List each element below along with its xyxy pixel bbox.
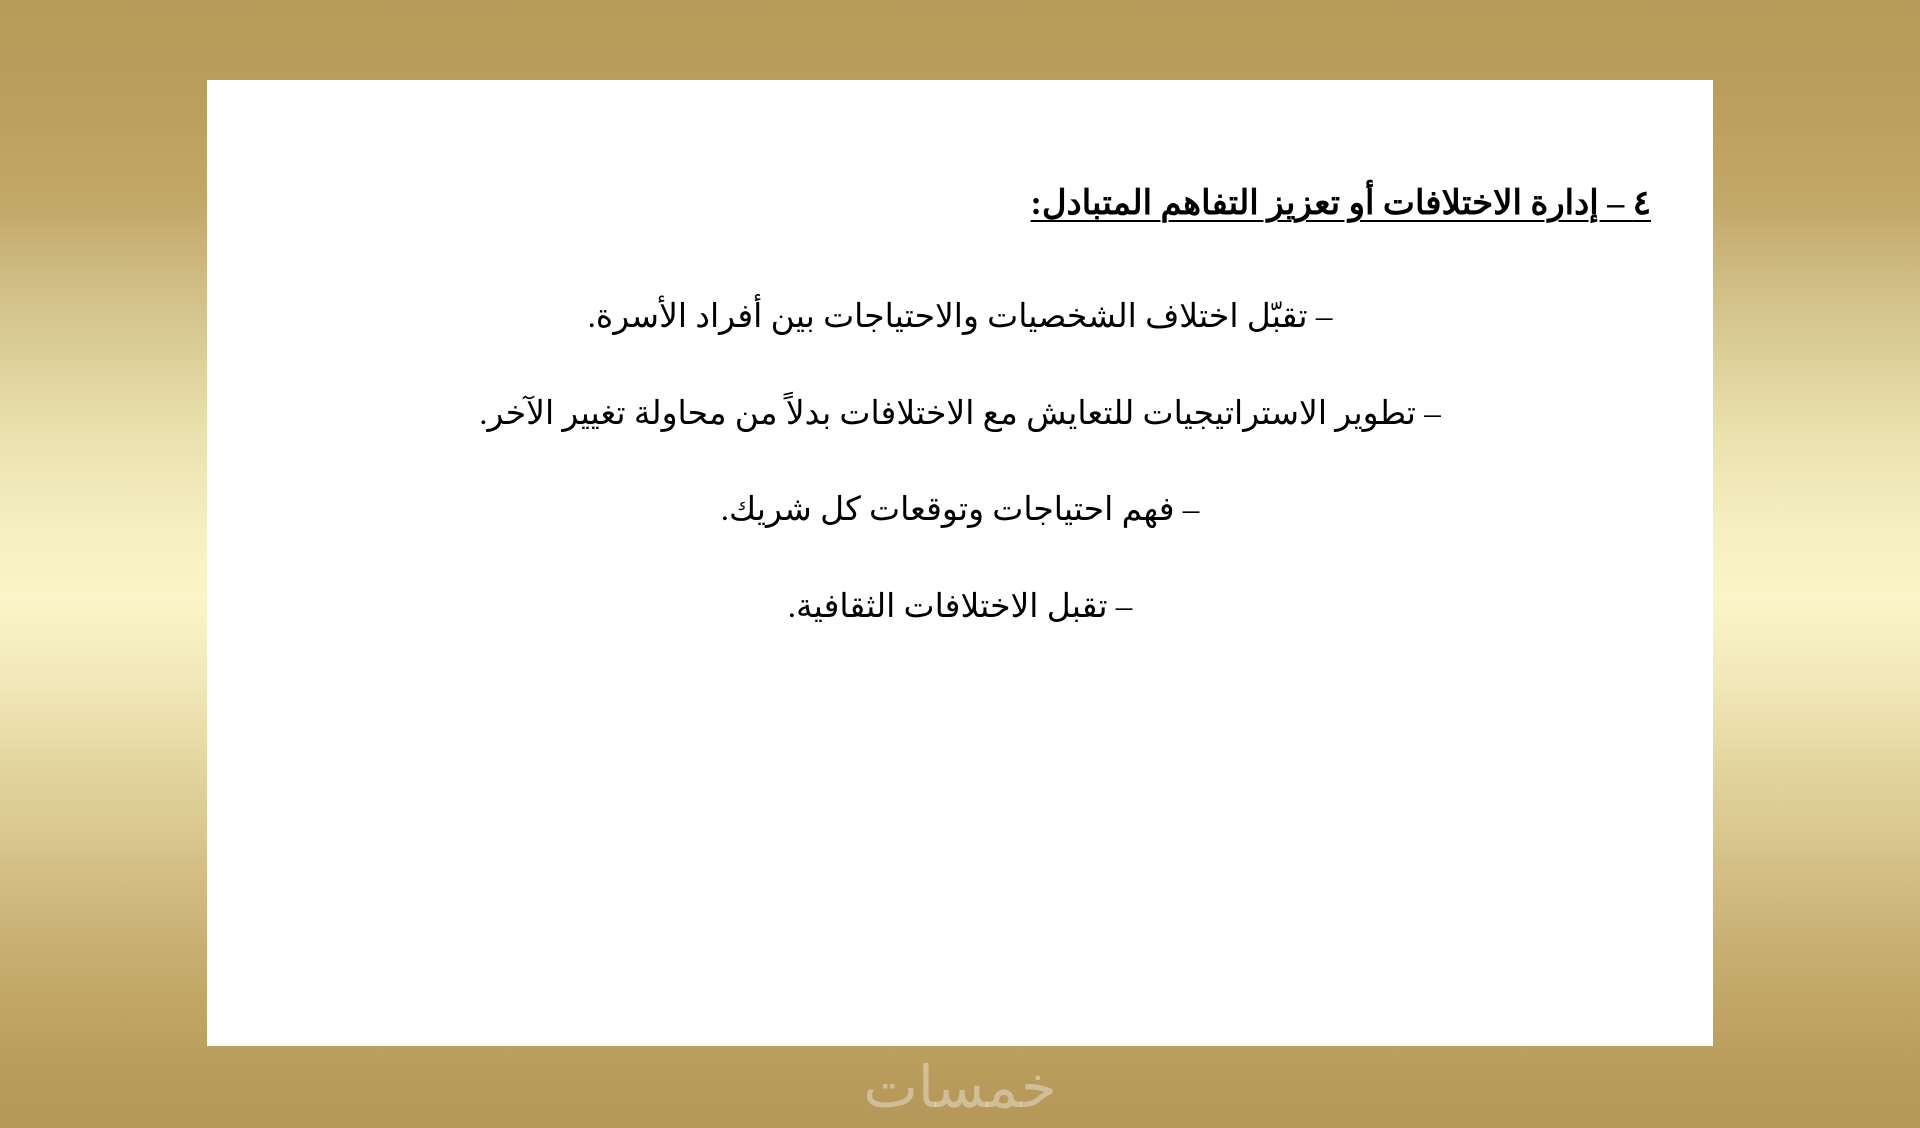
bullet-item: – تقبل الاختلافات الثقافية.	[207, 585, 1713, 630]
slide-title: ٤ – إدارة الاختلافات أو تعزيز التفاهم ال…	[251, 183, 1651, 226]
slide-title-text: ٤ – إدارة الاختلافات أو تعزيز التفاهم ال…	[1031, 185, 1651, 222]
bullet-item-text: – تقبل الاختلافات الثقافية.	[788, 589, 1133, 625]
bullet-item-text: – تطوير الاستراتيجيات للتعايش مع الاختلا…	[479, 396, 1440, 432]
bullet-item: – فهم احتياجات وتوقعات كل شريك.	[207, 488, 1713, 533]
bullet-item-text: – فهم احتياجات وتوقعات كل شريك.	[721, 492, 1200, 528]
watermark-text: خمسات	[863, 1058, 1056, 1116]
slide-content-card: ٤ – إدارة الاختلافات أو تعزيز التفاهم ال…	[207, 80, 1713, 1046]
bullet-item: – تطوير الاستراتيجيات للتعايش مع الاختلا…	[207, 392, 1713, 437]
bullet-item-text: – تقبّل اختلاف الشخصيات والاحتياجات بين …	[588, 299, 1333, 335]
watermark: خمسات	[0, 1046, 1920, 1128]
bullet-item: – تقبّل اختلاف الشخصيات والاحتياجات بين …	[207, 295, 1713, 340]
slide-root: ٤ – إدارة الاختلافات أو تعزيز التفاهم ال…	[0, 0, 1920, 1128]
bullet-list: – تقبّل اختلاف الشخصيات والاحتياجات بين …	[207, 295, 1713, 681]
